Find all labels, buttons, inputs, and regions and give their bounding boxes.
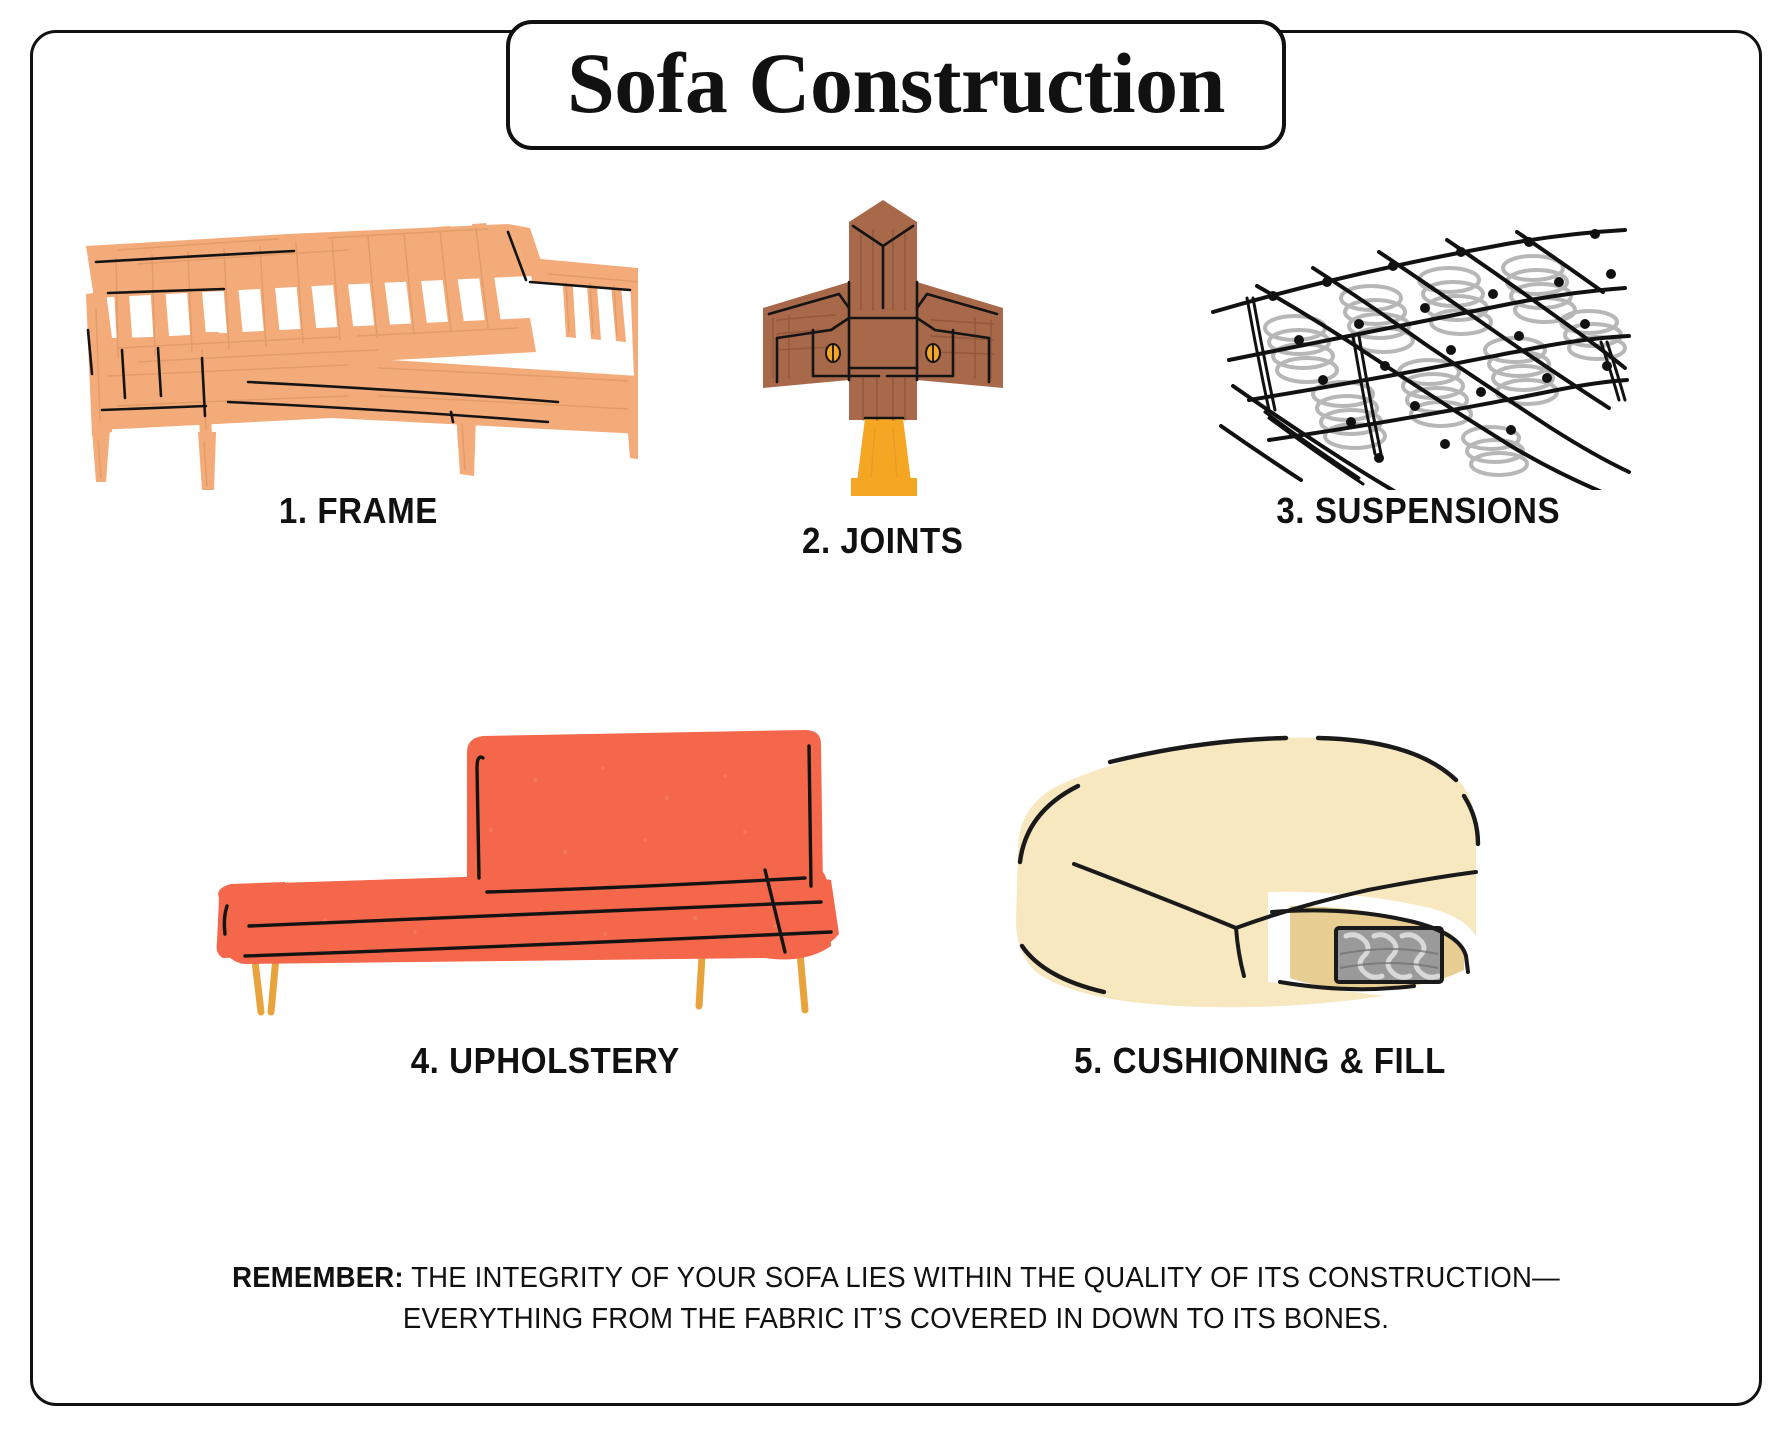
step-cushioning-fill: 5. CUSHIONING & FILL — [910, 720, 1610, 1200]
step-label-frame: 1. FRAME — [279, 490, 438, 532]
title-badge: Sofa Construction — [506, 20, 1286, 150]
step-label-upholstery: 4. UPHOLSTERY — [410, 1040, 679, 1082]
upholstered-sofa-illustration — [205, 720, 885, 1040]
footer-lead: REMEMBER: — [232, 1262, 404, 1294]
footer-line-1-rest: THE INTEGRITY OF YOUR SOFA LIES WITHIN T… — [404, 1262, 1560, 1294]
infographic-poster: Sofa Construction — [0, 0, 1792, 1436]
step-upholstery: 4. UPHOLSTERY — [180, 720, 910, 1200]
step-joints: 2. JOINTS — [668, 190, 1098, 670]
page-title: Sofa Construction — [567, 40, 1225, 126]
steps-row-top: 1. FRAME — [48, 190, 1748, 670]
step-label-joints: 2. JOINTS — [802, 520, 963, 562]
footer-line-1: REMEMBER: THE INTEGRITY OF YOUR SOFA LIE… — [136, 1258, 1656, 1299]
wood-joint-illustration — [753, 190, 1013, 520]
steps-row-bottom: 4. UPHOLSTERY — [180, 720, 1610, 1200]
webbing-springs-illustration — [1203, 190, 1633, 490]
step-label-cushioning: 5. CUSHIONING & FILL — [1074, 1040, 1446, 1082]
step-suspensions: 3. SUSPENSIONS — [1098, 190, 1738, 670]
footer-note: REMEMBER: THE INTEGRITY OF YOUR SOFA LIE… — [96, 1258, 1696, 1340]
sofa-frame-illustration — [78, 190, 638, 490]
cushion-cutaway-illustration — [1000, 720, 1520, 1040]
step-label-suspensions: 3. SUSPENSIONS — [1276, 490, 1560, 532]
step-frame: 1. FRAME — [48, 190, 668, 670]
footer-line-2: EVERYTHING FROM THE FABRIC IT’S COVERED … — [136, 1299, 1656, 1340]
